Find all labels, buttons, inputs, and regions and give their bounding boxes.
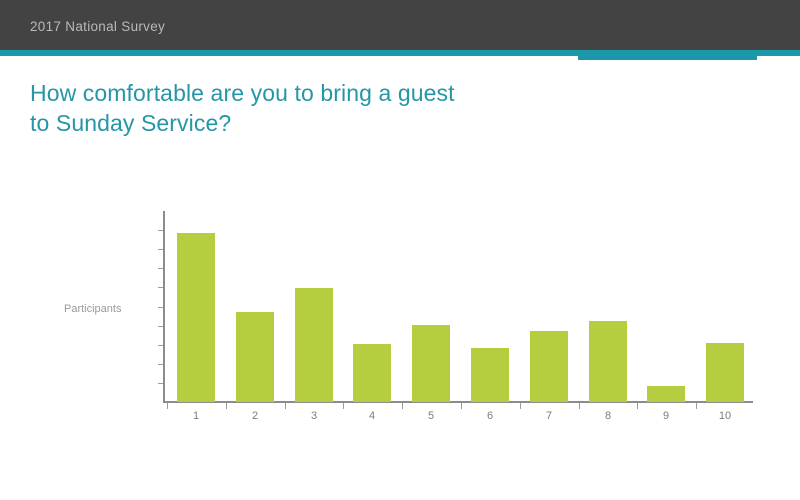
bar-7	[530, 331, 568, 402]
y-tick-5	[158, 307, 163, 308]
x-tick-label-5: 5	[411, 410, 451, 422]
slide-canvas: 2017 National Survey How comfortable are…	[0, 0, 800, 500]
bar-1	[177, 233, 215, 402]
bar-3	[295, 288, 333, 402]
x-tick-2	[226, 403, 227, 409]
x-tick-label-9: 9	[646, 410, 686, 422]
y-tick-1	[158, 230, 163, 231]
y-tick-8	[158, 364, 163, 365]
x-tick-label-10: 10	[705, 410, 745, 422]
x-tick-8	[579, 403, 580, 409]
x-tick-1	[167, 403, 168, 409]
bar-2	[236, 312, 274, 402]
x-tick-3	[285, 403, 286, 409]
y-axis-line	[163, 211, 165, 403]
y-tick-7	[158, 345, 163, 346]
bar-4	[353, 344, 391, 402]
y-tick-4	[158, 287, 163, 288]
x-tick-10	[696, 403, 697, 409]
x-tick-7	[520, 403, 521, 409]
bar-chart: Participants 12345678910	[0, 0, 800, 500]
bar-8	[589, 321, 627, 402]
x-tick-label-4: 4	[352, 410, 392, 422]
bar-5	[412, 325, 450, 402]
x-tick-label-2: 2	[235, 410, 275, 422]
y-tick-3	[158, 268, 163, 269]
y-tick-6	[158, 326, 163, 327]
bar-6	[471, 348, 509, 402]
bar-10	[706, 343, 744, 402]
x-tick-6	[461, 403, 462, 409]
x-tick-5	[402, 403, 403, 409]
y-axis-label: Participants	[64, 303, 121, 315]
x-tick-4	[343, 403, 344, 409]
x-tick-9	[637, 403, 638, 409]
x-tick-label-6: 6	[470, 410, 510, 422]
x-tick-label-8: 8	[588, 410, 628, 422]
bar-9	[647, 386, 685, 402]
y-tick-2	[158, 249, 163, 250]
y-tick-9	[158, 383, 163, 384]
x-tick-label-7: 7	[529, 410, 569, 422]
x-tick-label-3: 3	[294, 410, 334, 422]
x-tick-label-1: 1	[176, 410, 216, 422]
